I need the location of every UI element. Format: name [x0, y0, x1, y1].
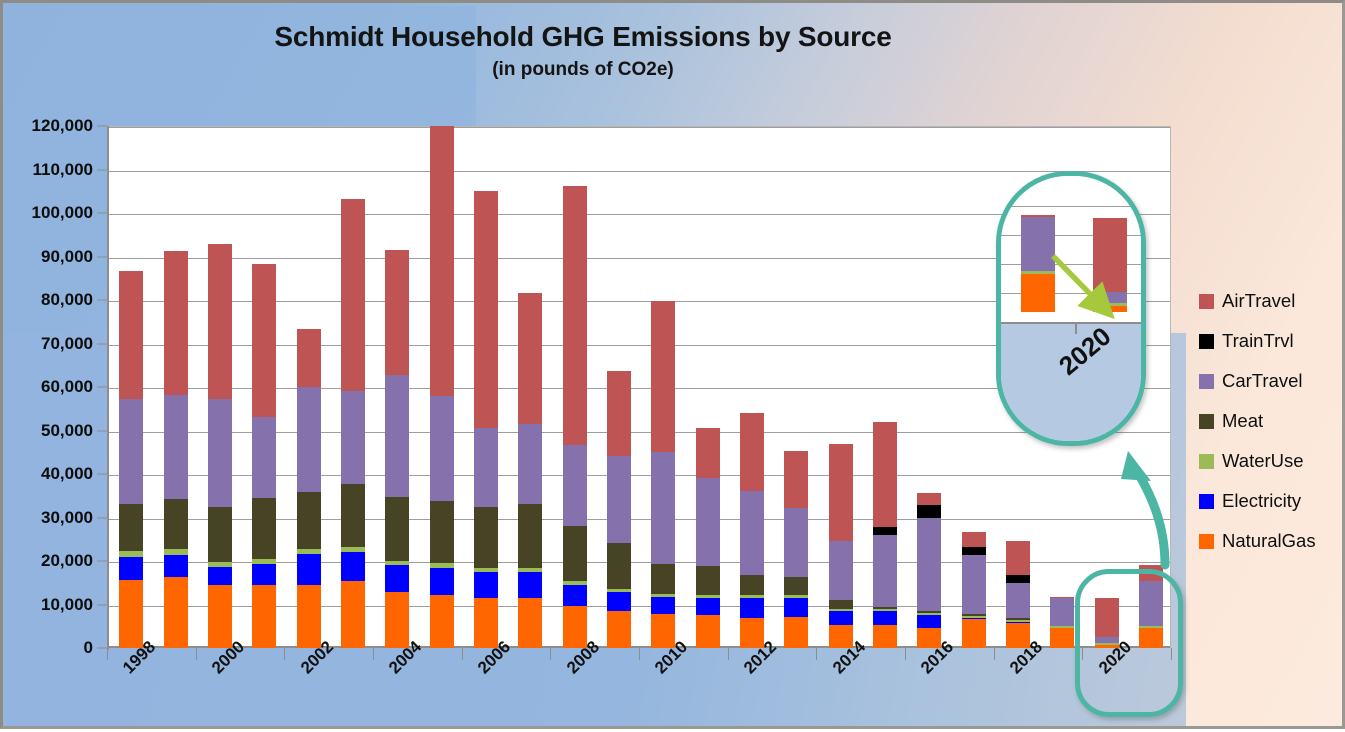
- legend-item-label: Meat: [1222, 410, 1263, 432]
- bar-segment-naturalgas: [164, 577, 188, 648]
- x-axis: 1998200020022004200620082010201220142016…: [107, 648, 1171, 732]
- page-title: Schmidt Household GHG Emissions by Sourc…: [3, 21, 1163, 53]
- y-axis-tick-label: 20,000: [41, 551, 93, 571]
- bar-2018[interactable]: [1006, 541, 1030, 648]
- y-axis-line: [107, 126, 109, 650]
- gridline: [109, 171, 1170, 172]
- bar-segment-electricity: [784, 598, 808, 617]
- bar-segment-meat: [252, 498, 276, 559]
- y-axis-tick-label: 80,000: [41, 290, 93, 310]
- bar-segment-cartravel: [563, 445, 587, 526]
- x-axis-tick: [816, 648, 817, 660]
- bar-segment-electricity: [607, 592, 631, 611]
- bar-segment-naturalgas: [474, 598, 498, 648]
- chart-subtitle: (in pounds of CO2e): [3, 59, 1163, 81]
- bar-segment-airtravel: [430, 126, 454, 396]
- bar-2016[interactable]: [917, 493, 941, 648]
- legend-item-label: Electricity: [1222, 490, 1301, 512]
- bar-segment-airtravel: [607, 371, 631, 456]
- bar-segment-naturalgas: [208, 585, 232, 648]
- y-axis-tick: [97, 169, 107, 170]
- x-axis-tick: [639, 648, 640, 660]
- bar-segment-meat: [829, 600, 853, 609]
- bar-segment-electricity: [474, 572, 498, 598]
- bar-segment-airtravel: [873, 422, 897, 527]
- y-axis-tick-label: 10,000: [41, 595, 93, 615]
- y-axis-tick: [97, 300, 107, 301]
- bar-segment-traintrvl: [962, 547, 986, 554]
- bar-2003[interactable]: [341, 199, 365, 648]
- legend-item-meat[interactable]: Meat: [1199, 401, 1344, 441]
- bar-segment-electricity: [563, 585, 587, 606]
- legend-swatch-icon: [1199, 494, 1214, 509]
- bar-2011[interactable]: [696, 428, 720, 648]
- bar-segment-airtravel: [341, 199, 365, 390]
- bar-segment-cartravel: [829, 541, 853, 600]
- bar-segment-cartravel: [740, 491, 764, 575]
- bar-segment-cartravel: [119, 399, 143, 503]
- bar-segment-electricity: [696, 598, 720, 616]
- source-callout: [1075, 569, 1183, 717]
- legend: AirTravelTrainTrvlCarTravelMeatWaterUseE…: [1199, 281, 1344, 561]
- bar-segment-electricity: [208, 567, 232, 585]
- legend-swatch-icon: [1199, 294, 1214, 309]
- gridline: [109, 127, 1170, 128]
- bar-segment-naturalgas: [962, 619, 986, 648]
- legend-item-naturalgas[interactable]: NaturalGas: [1199, 521, 1344, 561]
- legend-item-label: TrainTrvl: [1222, 330, 1294, 352]
- bar-segment-electricity: [740, 598, 764, 618]
- bar-segment-electricity: [518, 572, 542, 598]
- bar-2001[interactable]: [252, 264, 276, 648]
- y-axis-tick: [97, 517, 107, 518]
- bar-segment-meat: [518, 504, 542, 568]
- y-axis-tick: [97, 387, 107, 388]
- bar-segment-airtravel: [385, 250, 409, 374]
- bar-segment-airtravel: [740, 413, 764, 491]
- y-axis-tick: [97, 604, 107, 605]
- bar-segment-electricity: [873, 611, 897, 625]
- bar-segment-cartravel: [208, 399, 232, 506]
- legend-swatch-icon: [1199, 374, 1214, 389]
- bar-segment-meat: [164, 499, 188, 549]
- bar-segment-cartravel: [784, 508, 808, 577]
- chart-header: Schmidt Household GHG Emissions by Sourc…: [3, 21, 1163, 81]
- bar-segment-naturalgas: [563, 606, 587, 648]
- x-axis-tick: [284, 648, 285, 660]
- legend-item-label: NaturalGas: [1222, 530, 1316, 552]
- legend-swatch-icon: [1199, 334, 1214, 349]
- bar-segment-cartravel: [962, 555, 986, 614]
- y-axis-tick-label: 120,000: [32, 116, 93, 136]
- bar-segment-naturalgas: [873, 625, 897, 648]
- bar-2015[interactable]: [873, 422, 897, 648]
- bar-segment-meat: [651, 564, 675, 594]
- bar-segment-airtravel: [119, 271, 143, 399]
- y-axis-tick: [97, 256, 107, 257]
- decline-arrow-icon: [1001, 176, 1146, 446]
- legend-item-traintrvl[interactable]: TrainTrvl: [1199, 321, 1344, 361]
- bar-segment-cartravel: [1050, 598, 1074, 627]
- bar-segment-meat: [740, 575, 764, 595]
- y-axis-tick-label: 70,000: [41, 334, 93, 354]
- legend-item-electricity[interactable]: Electricity: [1199, 481, 1344, 521]
- y-axis-tick: [97, 213, 107, 214]
- bar-segment-cartravel: [1006, 583, 1030, 618]
- bar-2014[interactable]: [829, 444, 853, 648]
- bar-segment-cartravel: [607, 456, 631, 543]
- bar-segment-electricity: [385, 565, 409, 592]
- bar-segment-airtravel: [563, 186, 587, 446]
- bar-segment-cartravel: [518, 424, 542, 505]
- y-axis-tick: [97, 648, 107, 649]
- bar-1998[interactable]: [119, 271, 143, 648]
- bar-segment-airtravel: [297, 329, 321, 387]
- bar-segment-cartravel: [385, 375, 409, 497]
- bar-segment-cartravel: [917, 518, 941, 611]
- legend-item-label: WaterUse: [1222, 450, 1304, 472]
- chart-window: Schmidt Household GHG Emissions by Sourc…: [0, 0, 1345, 729]
- bar-segment-electricity: [651, 597, 675, 614]
- bar-segment-meat: [297, 492, 321, 549]
- y-axis-tick: [97, 474, 107, 475]
- bar-segment-cartravel: [430, 396, 454, 501]
- bar-segment-cartravel: [873, 535, 897, 606]
- y-axis-tick-label: 100,000: [32, 203, 93, 223]
- bar-segment-meat: [208, 507, 232, 563]
- bar-2007[interactable]: [518, 293, 542, 648]
- bar-segment-naturalgas: [341, 581, 365, 648]
- bar-segment-meat: [607, 543, 631, 589]
- y-axis-tick-label: 90,000: [41, 247, 93, 267]
- x-axis-tick: [550, 648, 551, 660]
- legend-item-airtravel[interactable]: AirTravel: [1199, 281, 1344, 321]
- bar-2010[interactable]: [651, 301, 675, 648]
- bar-segment-electricity: [430, 568, 454, 596]
- bar-segment-cartravel: [297, 387, 321, 491]
- y-axis-tick-label: 30,000: [41, 508, 93, 528]
- x-axis-tick: [728, 648, 729, 660]
- bar-segment-airtravel: [208, 244, 232, 399]
- bar-segment-airtravel: [784, 451, 808, 508]
- bar-segment-naturalgas: [696, 615, 720, 648]
- legend-swatch-icon: [1199, 454, 1214, 469]
- bar-segment-cartravel: [341, 391, 365, 485]
- bar-segment-cartravel: [651, 452, 675, 563]
- bar-segment-cartravel: [474, 428, 498, 507]
- bar-segment-naturalgas: [1050, 628, 1074, 648]
- bar-1999[interactable]: [164, 251, 188, 648]
- y-axis-tick-label: 110,000: [32, 160, 93, 180]
- y-axis-tick: [97, 561, 107, 562]
- bar-segment-meat: [563, 526, 587, 580]
- x-axis-tick: [462, 648, 463, 660]
- bar-segment-naturalgas: [607, 611, 631, 648]
- bar-segment-naturalgas: [518, 598, 542, 648]
- bar-segment-meat: [696, 566, 720, 595]
- y-axis-tick-label: 60,000: [41, 377, 93, 397]
- legend-item-label: CarTravel: [1222, 370, 1303, 392]
- y-axis-tick-label: 0: [84, 638, 93, 658]
- bar-segment-traintrvl: [873, 527, 897, 536]
- bar-segment-electricity: [917, 615, 941, 628]
- y-axis-tick: [97, 343, 107, 344]
- bar-segment-airtravel: [651, 301, 675, 452]
- bar-segment-electricity: [297, 554, 321, 584]
- y-axis-tick: [97, 126, 107, 127]
- bar-segment-traintrvl: [1006, 575, 1030, 584]
- legend-item-cartravel[interactable]: CarTravel: [1199, 361, 1344, 401]
- y-axis-tick: [97, 430, 107, 431]
- bar-segment-meat: [430, 501, 454, 563]
- bar-segment-meat: [784, 577, 808, 595]
- bar-2019[interactable]: [1050, 597, 1074, 648]
- y-axis: 010,00020,00030,00040,00050,00060,00070,…: [3, 126, 107, 656]
- bar-2013[interactable]: [784, 451, 808, 648]
- bar-segment-airtravel: [474, 191, 498, 428]
- legend-item-wateruse[interactable]: WaterUse: [1199, 441, 1344, 481]
- x-axis-tick: [373, 648, 374, 660]
- bar-segment-electricity: [829, 611, 853, 626]
- bar-segment-naturalgas: [430, 595, 454, 648]
- bar-2000[interactable]: [208, 244, 232, 648]
- bar-2002[interactable]: [297, 329, 321, 648]
- bar-segment-airtravel: [252, 264, 276, 416]
- bar-segment-electricity: [119, 557, 143, 580]
- legend-swatch-icon: [1199, 534, 1214, 549]
- magnifier-callout: 2020: [996, 171, 1146, 446]
- y-axis-tick-label: 40,000: [41, 464, 93, 484]
- x-axis-tick: [905, 648, 906, 660]
- bar-segment-electricity: [341, 552, 365, 581]
- bar-segment-naturalgas: [385, 592, 409, 648]
- bar-2004[interactable]: [385, 250, 409, 648]
- bar-segment-cartravel: [252, 417, 276, 498]
- bar-segment-naturalgas: [784, 617, 808, 648]
- bar-segment-airtravel: [917, 493, 941, 504]
- bar-2012[interactable]: [740, 413, 764, 648]
- y-axis-tick-label: 50,000: [41, 421, 93, 441]
- legend-item-label: AirTravel: [1222, 290, 1295, 312]
- bar-2006[interactable]: [474, 191, 498, 648]
- bar-2009[interactable]: [607, 371, 631, 648]
- x-axis-tick: [994, 648, 995, 660]
- bar-2005[interactable]: [430, 126, 454, 648]
- bar-segment-naturalgas: [252, 585, 276, 649]
- bar-segment-naturalgas: [297, 585, 321, 649]
- bar-segment-airtravel: [696, 428, 720, 478]
- legend-swatch-icon: [1199, 414, 1214, 429]
- bar-segment-airtravel: [962, 532, 986, 547]
- bar-segment-airtravel: [829, 444, 853, 541]
- bar-segment-airtravel: [1006, 541, 1030, 574]
- bar-segment-meat: [119, 504, 143, 552]
- bar-segment-cartravel: [164, 395, 188, 499]
- bar-segment-meat: [341, 484, 365, 547]
- bar-segment-electricity: [164, 555, 188, 577]
- bar-segment-traintrvl: [917, 505, 941, 519]
- bar-segment-meat: [385, 497, 409, 561]
- x-axis-tick: [196, 648, 197, 660]
- bar-segment-electricity: [252, 564, 276, 585]
- bar-segment-meat: [474, 507, 498, 568]
- bar-segment-airtravel: [164, 251, 188, 395]
- bar-2017[interactable]: [962, 532, 986, 648]
- bar-2008[interactable]: [563, 186, 587, 648]
- bar-segment-airtravel: [518, 293, 542, 424]
- bar-segment-naturalgas: [119, 580, 143, 648]
- bar-segment-cartravel: [696, 478, 720, 565]
